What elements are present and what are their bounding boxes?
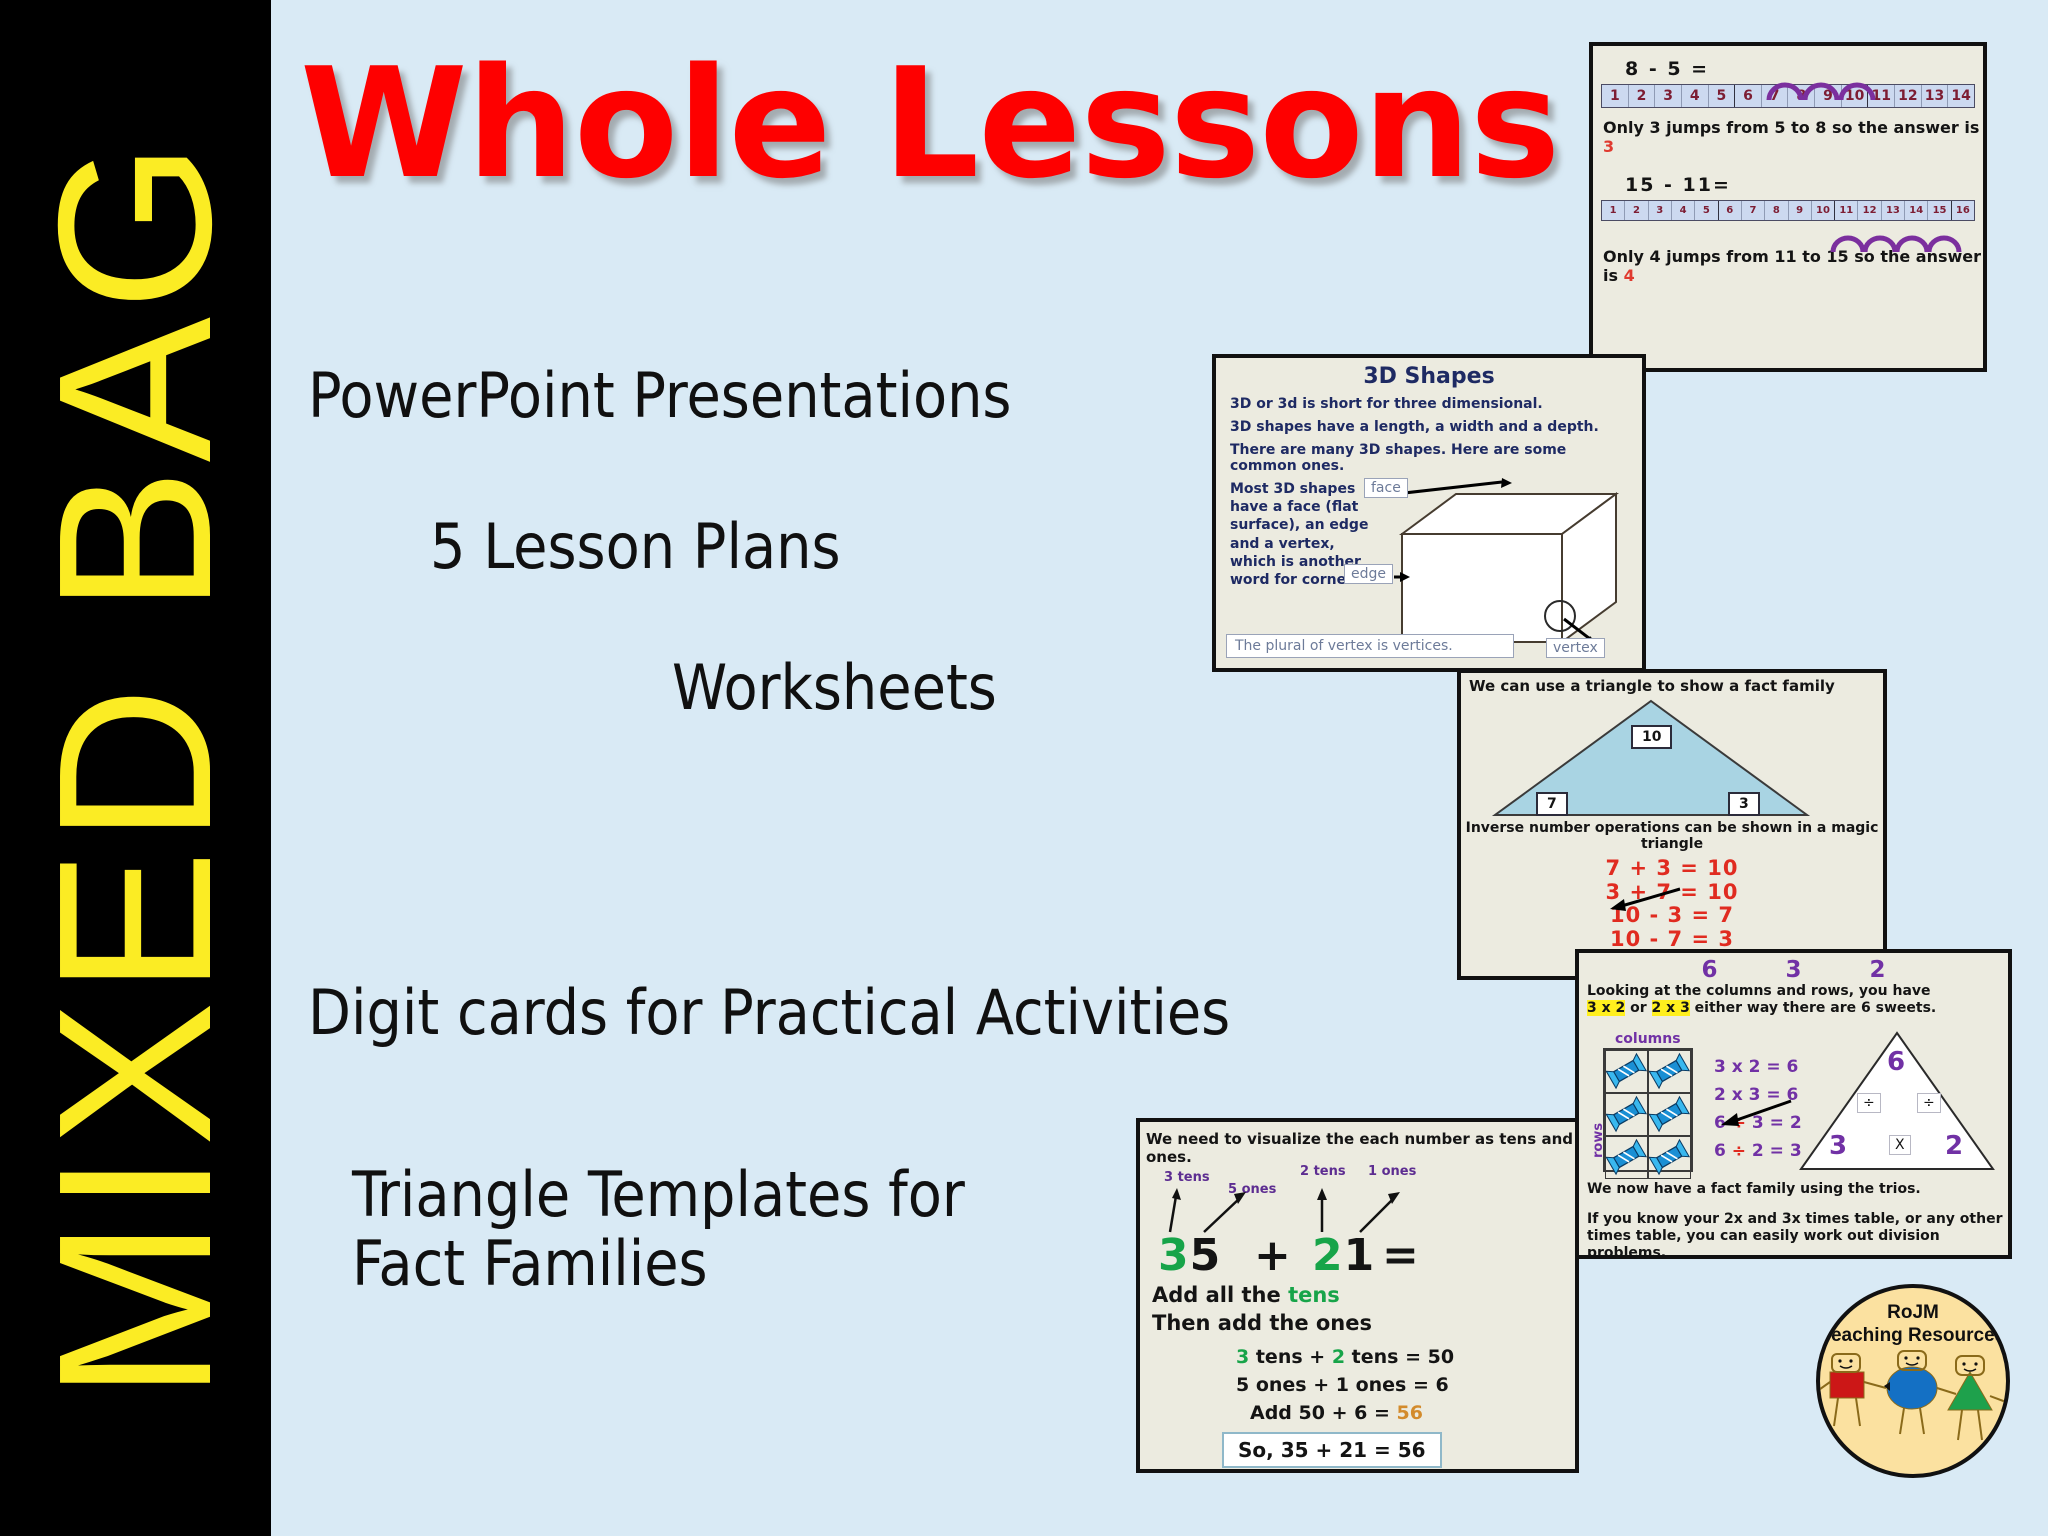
feature-line-digit-cards: Digit cards for Practical Activities <box>308 978 1230 1047</box>
step-add-ones: Then add the ones <box>1152 1310 1372 1336</box>
label-face: face <box>1364 478 1408 498</box>
preview-card-fact-family: We can use a triangle to show a fact fam… <box>1457 669 1887 980</box>
number-line-cell: 15 <box>1928 201 1951 220</box>
label-2-tens: 2 tens <box>1300 1164 1346 1179</box>
sweet-cell <box>1648 1136 1691 1179</box>
working-line-2: 5 ones + 1 ones = 6 <box>1236 1372 1449 1399</box>
label-3-tens: 3 tens <box>1164 1170 1210 1185</box>
card-3d-heading: 3D Shapes <box>1216 364 1642 389</box>
fact-family-equation: 10 - 7 = 3 <box>1461 928 1883 952</box>
preview-card-3d-shapes: 3D Shapes 3D or 3d is short for three di… <box>1212 354 1646 672</box>
tens-ones-heading: We need to visualize the each number as … <box>1146 1130 1575 1166</box>
trios-equation: 3 x 2 = 6 <box>1714 1053 1802 1081</box>
number-line-cell: 10 <box>1812 201 1835 220</box>
preview-card-tens-ones: We need to visualize the each number as … <box>1136 1118 1579 1473</box>
sidebar-banner: MIXED BAG <box>0 0 271 1536</box>
number-line-cell: 5 <box>1709 85 1736 107</box>
sidebar-title: MIXED BAG <box>27 135 245 1400</box>
number-line-cell: 4 <box>1682 85 1709 107</box>
numberline-equation-2: 15 - 11= <box>1625 174 1983 196</box>
preview-card-number-line: 8 - 5 = 1234567891011121314 Only 3 jumps… <box>1589 42 1987 372</box>
answer-box: So, 35 + 21 = 56 <box>1222 1432 1442 1468</box>
sweet-cell <box>1648 1050 1691 1093</box>
trios-triangle-right: 2 <box>1945 1131 1963 1161</box>
fact-family-heading: We can use a triangle to show a fact fam… <box>1469 677 1883 695</box>
numberline-note-1: Only 3 jumps from 5 to 8 so the answer i… <box>1603 118 1983 156</box>
trios-op-divide-left: ÷ <box>1857 1093 1881 1113</box>
label-edge: edge <box>1344 564 1393 584</box>
addend-1: 35 <box>1158 1230 1221 1281</box>
cube-diagram-icon <box>1394 476 1626 656</box>
trios-footer-1: We now have a fact family using the trio… <box>1587 1181 1921 1198</box>
trios-equation: 6 ÷ 2 = 3 <box>1714 1137 1802 1165</box>
number-line-cell: 6 <box>1719 201 1742 220</box>
number-line-cell: 8 <box>1765 201 1788 220</box>
page-title: Whole Lessons <box>300 48 1559 200</box>
card-3d-paragraph-1: 3D or 3d is short for three dimensional. <box>1230 396 1628 412</box>
brand-logo: RoJM Teaching Resources <box>1816 1284 2010 1478</box>
sweets-array-grid <box>1603 1048 1693 1172</box>
number-line-cell: 11 <box>1835 201 1858 220</box>
trios-op-divide-right: ÷ <box>1917 1093 1941 1113</box>
jump-arcs-top <box>1765 78 1885 100</box>
fact-family-subheading: Inverse number operations can be shown i… <box>1461 820 1883 852</box>
number-line-cell: 16 <box>1952 201 1974 220</box>
fact-family-link-arrow-icon <box>1608 887 1688 911</box>
trios-footer-2: If you know your 2x and 3x times table, … <box>1587 1211 2003 1259</box>
number-line-cell: 3 <box>1655 85 1682 107</box>
logo-children-icon <box>1820 1348 2006 1468</box>
number-line-cell: 6 <box>1735 85 1762 107</box>
working-line-3: Add 50 + 6 = 56 <box>1250 1400 1423 1427</box>
number-line-cell: 7 <box>1742 201 1765 220</box>
trios-line-2: 3 x 2 or 2 x 3 either way there are 6 sw… <box>1587 1000 2008 1017</box>
triangle-value-top: 10 <box>1631 725 1672 749</box>
trios-top-numbers: 6 3 2 <box>1609 957 2008 983</box>
number-line-cell: 14 <box>1948 85 1974 107</box>
sweet-cell <box>1605 1050 1648 1093</box>
feature-line-worksheets: Worksheets <box>672 653 997 722</box>
place-value-arrows-icon <box>1156 1184 1416 1236</box>
triangle-value-left: 7 <box>1536 792 1568 816</box>
equals-sign: = <box>1382 1230 1420 1281</box>
step-add-tens: Add all the tens <box>1152 1282 1340 1308</box>
addend-2: 21 <box>1312 1230 1375 1281</box>
card-3d-paragraph-3: There are many 3D shapes. Here are some … <box>1230 442 1628 474</box>
label-vertex: vertex <box>1546 638 1605 658</box>
slide-canvas: MIXED BAG Whole Lessons PowerPoint Prese… <box>0 0 2048 1536</box>
number-line-cell: 2 <box>1625 201 1648 220</box>
jump-arcs-bottom <box>1829 230 1969 252</box>
fact-family-equation: 7 + 3 = 10 <box>1461 857 1883 881</box>
label-columns: columns <box>1615 1031 1681 1047</box>
triangle-value-right: 3 <box>1728 792 1760 816</box>
label-1-ones: 1 ones <box>1368 1164 1416 1179</box>
number-line-cell: 12 <box>1858 201 1881 220</box>
feature-line-lesson-plans: 5 Lesson Plans <box>430 512 841 581</box>
feature-line-triangle-templates: Triangle Templates for Fact Families <box>352 1160 965 1299</box>
logo-line-2: Teaching Resources <box>1820 1325 2006 1347</box>
number-line-cell: 4 <box>1672 201 1695 220</box>
trios-line-1: Looking at the columns and rows, you hav… <box>1587 983 2008 1000</box>
number-line-cell: 3 <box>1649 201 1672 220</box>
plus-sign: + <box>1254 1230 1292 1281</box>
number-line-cell: 12 <box>1895 85 1922 107</box>
number-line-row-2: 12345678910111213141516 <box>1601 200 1975 221</box>
logo-line-1: RoJM <box>1820 1302 2006 1324</box>
trios-triangle-left: 3 <box>1829 1131 1847 1161</box>
card-3d-paragraph-2: 3D shapes have a length, a width and a d… <box>1230 419 1628 435</box>
trios-link-arrow-icon <box>1719 1098 1799 1128</box>
sweet-cell <box>1648 1093 1691 1136</box>
working-line-1: 3 tens + 2 tens = 50 <box>1236 1344 1454 1371</box>
feature-line-powerpoint: PowerPoint Presentations <box>308 361 1012 430</box>
sweet-cell <box>1605 1136 1648 1179</box>
number-line-cell: 5 <box>1695 201 1718 220</box>
vertex-plural-note: The plural of vertex is vertices. <box>1226 634 1514 658</box>
numberline-equation-1: 8 - 5 = <box>1625 58 1983 80</box>
number-line-cell: 14 <box>1905 201 1928 220</box>
trios-op-multiply: X <box>1889 1135 1911 1155</box>
sweet-cell <box>1605 1093 1648 1136</box>
number-line-cell: 2 <box>1629 85 1656 107</box>
preview-card-trios: 6 3 2 Looking at the columns and rows, y… <box>1575 949 2012 1259</box>
number-line-cell: 1 <box>1602 201 1625 220</box>
number-line-cell: 1 <box>1602 85 1629 107</box>
number-line-cell: 13 <box>1882 201 1905 220</box>
trios-triangle-top: 6 <box>1887 1047 1905 1077</box>
number-line-cell: 9 <box>1789 201 1812 220</box>
number-line-cell: 13 <box>1922 85 1949 107</box>
